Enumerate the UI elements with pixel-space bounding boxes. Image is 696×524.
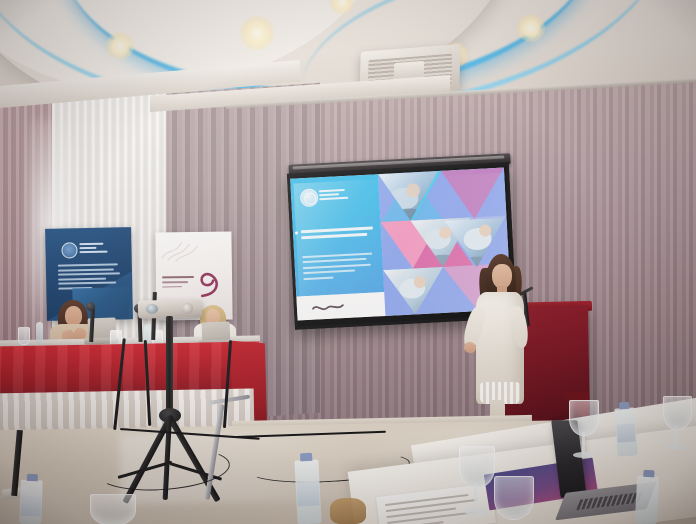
glass-foot bbox=[666, 444, 687, 450]
ilo-emblem-circle bbox=[300, 188, 319, 207]
partner-spiral-logo-icon bbox=[196, 268, 222, 298]
panelist-left-face bbox=[65, 306, 82, 326]
glass-stem bbox=[582, 432, 585, 454]
water-bottle-panel bbox=[36, 322, 43, 344]
wine-glass-3 bbox=[660, 396, 694, 454]
banner-ilo-wordmark bbox=[79, 243, 109, 256]
bottle-cap bbox=[619, 402, 629, 410]
bottle-label bbox=[296, 481, 319, 506]
banner-flourish-ornament bbox=[159, 236, 199, 263]
slide-title bbox=[301, 226, 374, 242]
glass-bowl bbox=[494, 476, 534, 520]
ilo-wordmark bbox=[319, 189, 352, 203]
banner-ilo-emblem-icon bbox=[61, 242, 77, 258]
wine-glass-5 bbox=[86, 494, 138, 524]
glass-bowl bbox=[90, 494, 136, 524]
water-bottle-fg-2 bbox=[19, 480, 43, 524]
glass-bowl bbox=[569, 400, 599, 436]
partner-banner-text bbox=[162, 276, 196, 291]
water-bottle-fg-1 bbox=[294, 459, 321, 524]
conference-photo bbox=[0, 0, 696, 524]
bottle-cap bbox=[27, 474, 38, 481]
slide-text-panel bbox=[290, 174, 384, 296]
glass-stem bbox=[474, 484, 477, 510]
water-bottle-fg-4 bbox=[635, 475, 659, 524]
table-snack-bowl bbox=[330, 498, 366, 524]
projector-dial bbox=[182, 303, 193, 314]
bottle-label bbox=[21, 496, 42, 517]
desk-microphone-head-1 bbox=[86, 302, 95, 311]
wine-glass-2 bbox=[566, 400, 602, 462]
slide-bullet-marker bbox=[295, 231, 298, 234]
tripod-column bbox=[166, 316, 173, 418]
bottle-label bbox=[616, 423, 635, 442]
ilo-emblem-icon bbox=[300, 187, 353, 206]
projector-lens-icon bbox=[146, 304, 158, 314]
glass-bowl bbox=[663, 396, 692, 430]
glass-foot bbox=[573, 452, 594, 458]
slide-subtitle bbox=[302, 252, 375, 283]
squiggle-logo-icon bbox=[311, 300, 346, 314]
water-bottle-fg-3 bbox=[614, 407, 637, 456]
wine-glass-4 bbox=[490, 476, 536, 524]
bottle-cap bbox=[300, 453, 312, 462]
glass-stem bbox=[675, 426, 678, 446]
water-glass-1 bbox=[18, 327, 30, 345]
banner-ilo-logo bbox=[61, 242, 109, 257]
glass-foot bbox=[464, 508, 488, 515]
ceiling-spotlight-2 bbox=[240, 16, 274, 50]
bottle-cap bbox=[643, 470, 654, 478]
